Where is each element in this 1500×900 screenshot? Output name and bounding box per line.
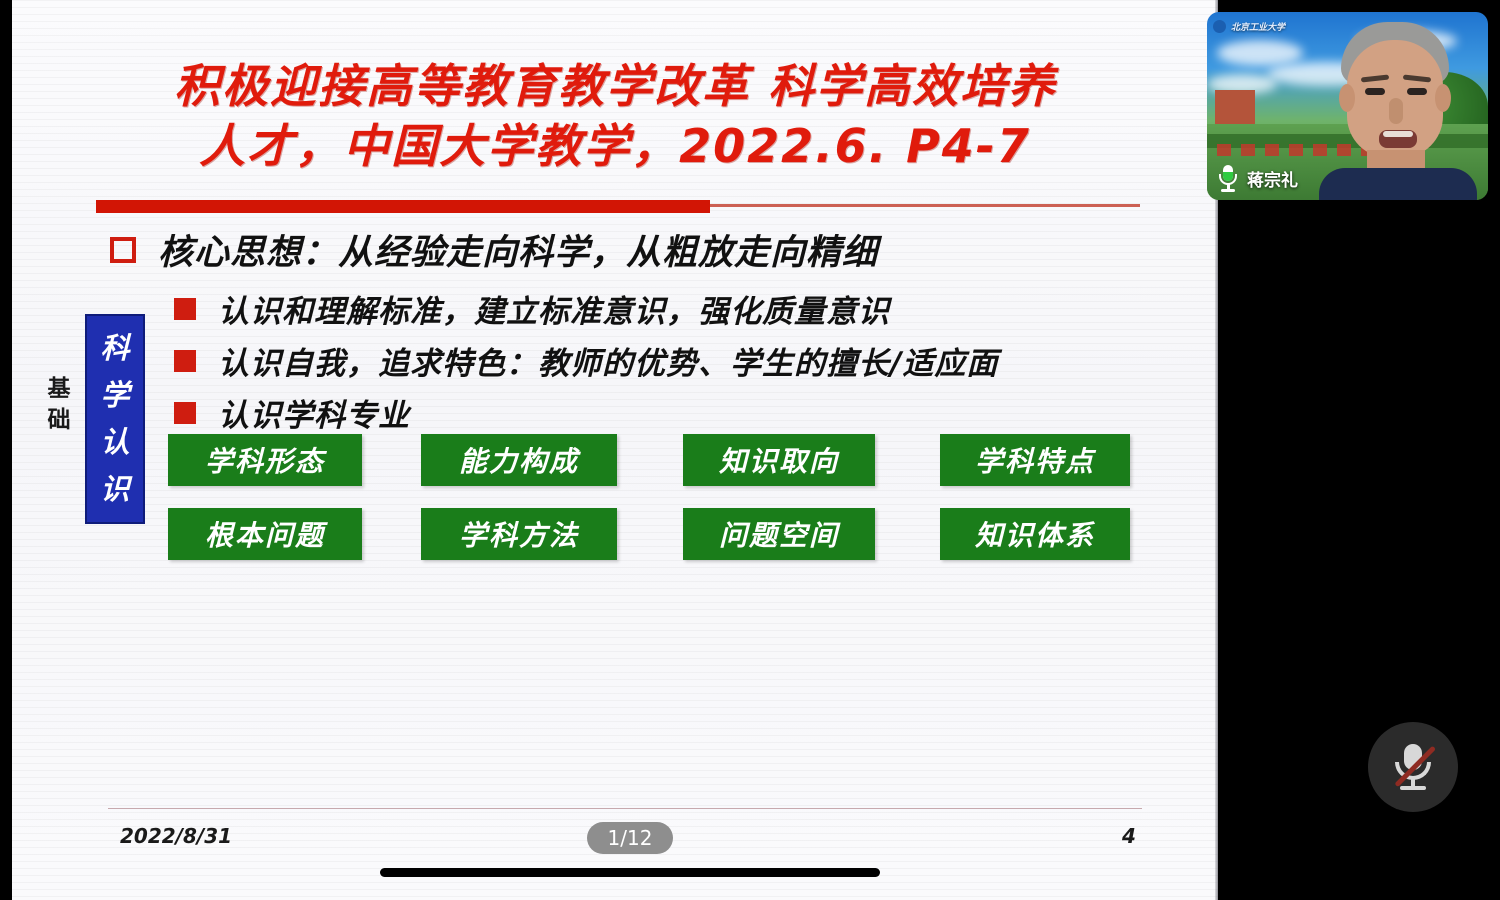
mute-button[interactable]	[1368, 722, 1458, 812]
green-box-6: 学科方法	[421, 508, 617, 560]
filled-square-bullet-icon	[174, 402, 196, 424]
bullet-level2-text-3: 认识学科专业	[218, 390, 410, 435]
green-box-1: 学科形态	[168, 434, 362, 486]
eye-right	[1407, 88, 1427, 95]
bullet-level2-1: 认识和理解标准，建立标准意识，强化质量意识	[174, 286, 890, 331]
green-box-3: 知识取向	[683, 434, 875, 486]
side-label-blue-char-3: 认	[100, 428, 129, 457]
footer-slide-number: 4	[1122, 824, 1136, 848]
university-watermark-text: 北京工业大学	[1231, 20, 1285, 33]
filled-square-bullet-icon	[174, 350, 196, 372]
university-watermark: 北京工业大学	[1213, 20, 1285, 33]
slide-title: 积极迎接高等教育教学改革 科学高效培养 人才，中国大学教学，2022.6. P4…	[12, 56, 1218, 176]
participant-name: 蒋宗礼	[1247, 166, 1298, 191]
participant-avatar	[1323, 22, 1473, 200]
footer-date: 2022/8/31	[120, 824, 232, 848]
bullet-level2-3: 认识学科专业	[174, 390, 410, 435]
bullet-level1: 核心思想：从经验走向科学，从粗放走向精细	[110, 224, 878, 275]
participant-video-tile[interactable]: 北京工业大学 蒋宗礼	[1207, 12, 1488, 200]
microphone-active-icon	[1217, 164, 1239, 192]
bullet-level2-text-2: 认识自我，追求特色：教师的优势、学生的擅长/适应面	[218, 338, 998, 383]
title-rule-thick	[96, 200, 710, 213]
filled-square-bullet-icon	[174, 298, 196, 320]
page-indicator-badge[interactable]: 1/12	[587, 822, 673, 854]
microphone-muted-icon	[1392, 742, 1434, 792]
eye-left	[1365, 88, 1385, 95]
bullet-level1-text: 核心思想：从经验走向科学，从粗放走向精细	[158, 224, 878, 275]
ear-left	[1339, 84, 1355, 112]
hollow-square-bullet-icon	[110, 237, 136, 263]
green-box-5: 根本问题	[168, 508, 362, 560]
slide-title-line-1: 积极迎接高等教育教学改革 科学高效培养	[12, 56, 1218, 116]
title-rule-thin	[710, 204, 1140, 207]
bullet-level2-2: 认识自我，追求特色：教师的优势、学生的擅长/适应面	[174, 338, 998, 383]
university-logo-icon	[1213, 20, 1226, 33]
green-box-7: 问题空间	[683, 508, 875, 560]
cloud-decoration	[1217, 40, 1303, 66]
meeting-screen: 积极迎接高等教育教学改革 科学高效培养 人才，中国大学教学，2022.6. P4…	[0, 0, 1500, 900]
side-label-blue-char-2: 学	[100, 381, 129, 410]
teeth	[1383, 131, 1413, 137]
slide-title-line-2: 人才，中国大学教学，2022.6. P4-7	[12, 116, 1218, 176]
home-indicator[interactable]	[380, 868, 880, 877]
participant-name-overlay: 蒋宗礼	[1217, 164, 1298, 192]
green-box-4: 学科特点	[940, 434, 1130, 486]
presentation-slide: 积极迎接高等教育教学改革 科学高效培养 人才，中国大学教学，2022.6. P4…	[12, 0, 1218, 900]
nose	[1389, 98, 1403, 124]
side-label-foundation: 基 础	[42, 378, 76, 432]
shirt	[1319, 168, 1477, 200]
bullet-level2-text-1: 认识和理解标准，建立标准意识，强化质量意识	[218, 286, 890, 331]
side-label-black-char-2: 础	[48, 409, 71, 432]
side-label-black-char-1: 基	[48, 378, 71, 401]
ear-right	[1435, 84, 1451, 112]
footer-divider	[108, 808, 1142, 809]
side-label-blue-char-1: 科	[100, 334, 129, 363]
green-box-8: 知识体系	[940, 508, 1130, 560]
side-label-scientific-understanding: 科 学 认 识	[85, 314, 145, 524]
green-box-2: 能力构成	[421, 434, 617, 486]
side-label-blue-char-4: 识	[100, 475, 129, 504]
